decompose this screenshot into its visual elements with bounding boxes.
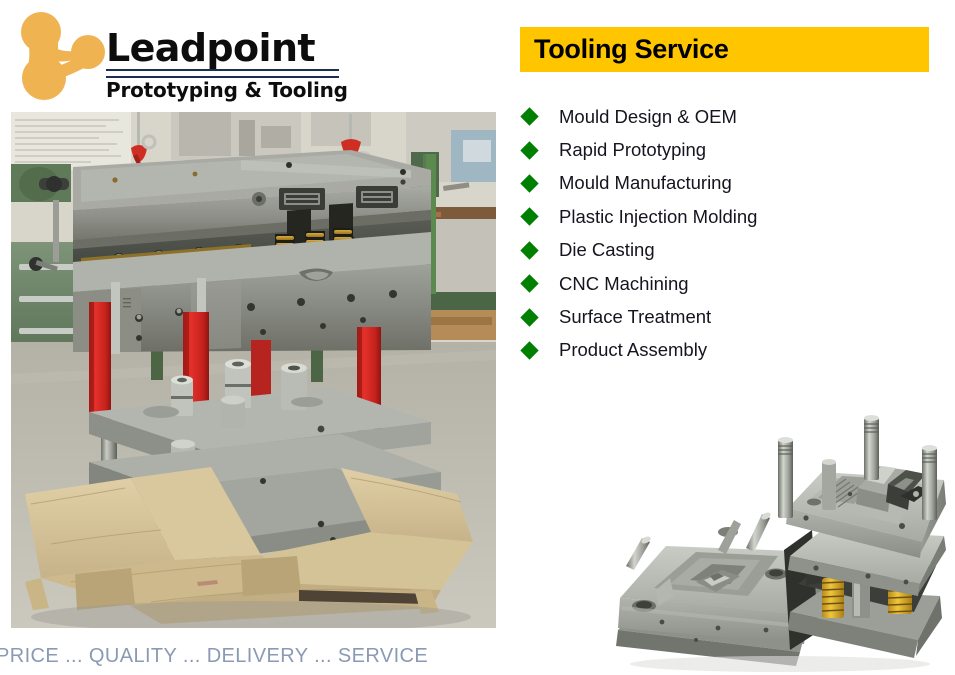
list-item-label: Product Assembly <box>559 339 707 361</box>
three-connected-circles-icon <box>14 10 110 102</box>
list-item[interactable]: Mould Design & OEM <box>521 100 941 133</box>
list-item-label: CNC Machining <box>559 273 689 295</box>
list-item[interactable]: Product Assembly <box>521 334 941 367</box>
page-title: Tooling Service <box>520 34 729 65</box>
slide-canvas: Leadpoint Prototyping & Tooling Tooling … <box>0 0 955 675</box>
list-item[interactable]: Die Casting <box>521 234 941 267</box>
list-item[interactable]: Rapid Prototyping <box>521 133 941 166</box>
list-item-label: Mould Design & OEM <box>559 106 737 128</box>
logo-text-block: Leadpoint Prototyping & Tooling <box>106 28 341 102</box>
logo-divider-rule <box>106 69 339 78</box>
section-title-bar: Tooling Service <box>520 27 929 72</box>
green-diamond-icon <box>520 341 538 359</box>
list-item[interactable]: CNC Machining <box>521 267 941 300</box>
footer-tagline: PRICE ... QUALITY ... DELIVERY ... SERVI… <box>0 645 428 668</box>
list-item[interactable]: Plastic Injection Molding <box>521 200 941 233</box>
company-logo[interactable]: Leadpoint Prototyping & Tooling <box>11 8 341 104</box>
list-item-label: Surface Treatment <box>559 306 711 328</box>
list-item-label: Die Casting <box>559 239 655 261</box>
green-diamond-icon <box>520 208 538 226</box>
open-injection-mould-photo <box>600 400 955 675</box>
list-item-label: Plastic Injection Molding <box>559 206 757 228</box>
list-item-label: Mould Manufacturing <box>559 172 732 194</box>
green-diamond-icon <box>520 241 538 259</box>
logo-tagline: Prototyping & Tooling <box>106 79 341 102</box>
green-diamond-icon <box>520 308 538 326</box>
green-diamond-icon <box>520 274 538 292</box>
green-diamond-icon <box>520 107 538 125</box>
service-list: Mould Design & OEM Rapid Prototyping Mou… <box>521 100 941 367</box>
green-diamond-icon <box>520 141 538 159</box>
list-item-label: Rapid Prototyping <box>559 139 706 161</box>
mould-base-on-pallet-photo <box>11 112 496 628</box>
logo-wordmark: Leadpoint <box>106 28 341 68</box>
green-diamond-icon <box>520 174 538 192</box>
list-item[interactable]: Mould Manufacturing <box>521 167 941 200</box>
list-item[interactable]: Surface Treatment <box>521 300 941 333</box>
